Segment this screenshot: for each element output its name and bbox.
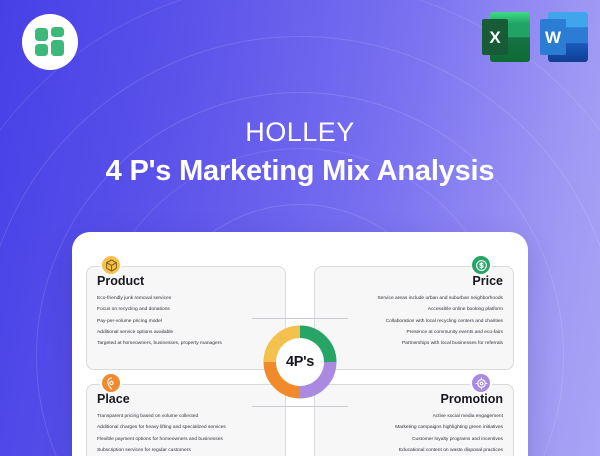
list-item: Marketing campaigns highlighting green i…	[325, 422, 503, 433]
list-item: Flexible payment options for homeowners …	[97, 434, 275, 445]
list-item: Accessible online booking platform	[325, 304, 503, 315]
brand-name: HOLLEY	[0, 118, 600, 148]
excel-icon-letter: X	[489, 29, 500, 46]
target-megaphone-icon	[470, 372, 492, 394]
excel-icon[interactable]: X	[482, 12, 530, 62]
connector-right	[300, 318, 348, 319]
word-icon[interactable]: W	[540, 12, 588, 62]
quadrant-place-list: Transparent pricing based on volume coll…	[87, 407, 285, 456]
list-item: Transparent pricing based on volume coll…	[97, 411, 275, 422]
excel-icon-badge: X	[482, 19, 508, 55]
list-item: Subscription services for regular custom…	[97, 445, 275, 456]
connector-left-2	[252, 406, 300, 407]
list-item: Educational content on waste disposal pr…	[325, 445, 503, 456]
list-item: Active social media engagement	[325, 411, 503, 422]
quadrant-price-list: Service areas include urban and suburban…	[315, 289, 513, 350]
list-item: Additional charges for heavy lifting and…	[97, 422, 275, 433]
logo-square-2	[51, 27, 64, 37]
logo-square-1	[35, 28, 48, 41]
office-export-icons: X W	[482, 12, 588, 62]
list-item: Pay-per-volume pricing model	[97, 316, 275, 327]
app-grid-logo-icon[interactable]	[22, 14, 78, 70]
dollar-coin-icon	[470, 254, 492, 276]
page-title: 4 P's Marketing Mix Analysis	[0, 153, 600, 191]
location-pin-icon	[100, 372, 122, 394]
logo-square-3	[35, 44, 48, 56]
list-item: Focus on recycling and donations	[97, 304, 275, 315]
connector-right-2	[300, 406, 348, 407]
list-item: Partnerships with local businesses for r…	[325, 338, 503, 349]
donut-center-label: 4P's	[286, 354, 314, 370]
list-item: Presence at community events and eco-fai…	[325, 327, 503, 338]
logo-square-4	[51, 40, 64, 56]
quadrant-product-list: Eco-friendly junk removal services Focus…	[87, 289, 285, 350]
connector-left	[252, 318, 300, 319]
list-item: Additional service options available	[97, 327, 275, 338]
list-item: Eco-friendly junk removal services	[97, 293, 275, 304]
four-ps-donut-chart: 4P's	[263, 325, 337, 399]
word-icon-badge: W	[540, 19, 566, 55]
list-item: Collaboration with local recycling cente…	[325, 316, 503, 327]
list-item: Targeted at homeowners, businesses, prop…	[97, 338, 275, 349]
header-bar: X W	[0, 0, 600, 78]
title-block: HOLLEY 4 P's Marketing Mix Analysis	[0, 118, 600, 190]
package-box-icon	[100, 254, 122, 276]
word-icon-letter: W	[545, 29, 561, 46]
quadrant-promotion-list: Active social media engagement Marketing…	[315, 407, 513, 456]
logo-grid-shape	[35, 27, 65, 57]
list-item: Customer loyalty programs and incentives	[325, 434, 503, 445]
quadrant-place[interactable]: Place Transparent pricing based on volum…	[86, 384, 286, 456]
marketing-mix-card: Product Eco-friendly junk removal servic…	[72, 232, 528, 456]
donut-center: 4P's	[276, 338, 324, 386]
list-item: Service areas include urban and suburban…	[325, 293, 503, 304]
quadrant-promotion[interactable]: Promotion Active social media engagement…	[314, 384, 514, 456]
